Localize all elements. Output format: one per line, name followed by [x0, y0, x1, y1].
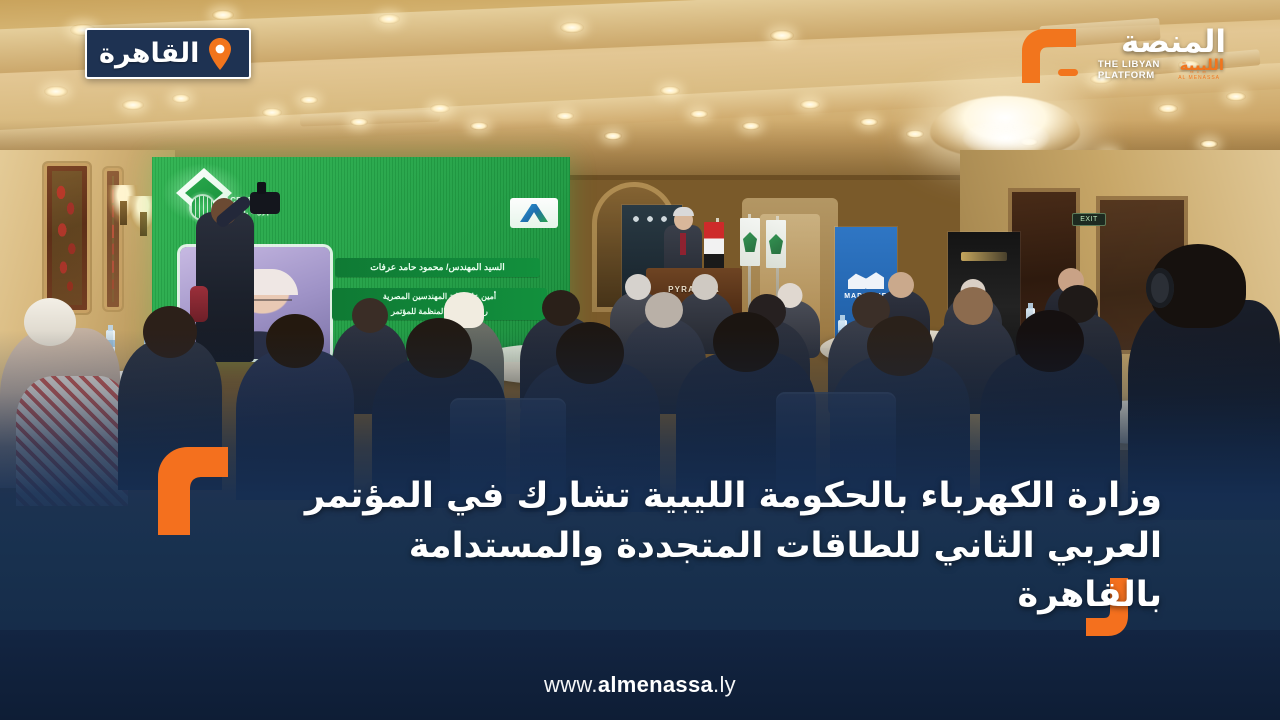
brand-tiny-mark: AL MENASSA [1178, 75, 1220, 81]
downlight [1200, 140, 1218, 148]
downlight [470, 122, 488, 130]
headline-line-3: بالقاهرة [222, 571, 1162, 621]
egypt-flag [704, 222, 724, 270]
attendee-head [645, 292, 683, 328]
brand-english-line1: THE LIBYAN [1098, 59, 1160, 70]
downlight [44, 86, 68, 97]
headline-line-1: وزارة الكهرباء بالحكومة الليبية تشارك في… [222, 472, 1162, 522]
organization-flag [740, 218, 760, 266]
speaker-head [674, 210, 693, 230]
news-card: EXIT ACRSE 2025 Cairo, Egypt السيد المهن… [0, 0, 1280, 720]
downlight [212, 10, 234, 20]
brand-arabic-sub: الليبية [1180, 58, 1224, 73]
sponsor-logo-on-screen [510, 198, 558, 228]
map-pin-icon [208, 38, 232, 70]
downlight [800, 100, 820, 109]
downlight [172, 94, 190, 103]
attendee-head [692, 274, 718, 300]
downlight [560, 22, 584, 33]
headline-line-2: العربي الثاني للطاقات المتجددة والمستدام… [222, 522, 1162, 572]
wall-panel-floral [44, 163, 90, 313]
ceiling-vent-3 [300, 110, 440, 127]
downlight [556, 112, 574, 120]
website-url[interactable]: www.almenassa.ly [0, 672, 1280, 698]
downlight [860, 118, 878, 126]
organization-flag-2 [766, 220, 786, 268]
attendee-head [352, 298, 388, 333]
downlight [604, 132, 622, 140]
downlight [350, 118, 368, 126]
attendee-head [953, 287, 993, 325]
exit-sign: EXIT [1072, 213, 1106, 226]
url-brand: almenassa [598, 672, 713, 697]
brand-english-name: THE LIBYAN PLATFORM [1098, 59, 1160, 81]
downlight [1226, 92, 1246, 101]
downlight [1158, 104, 1178, 113]
url-tld: .ly [713, 672, 736, 697]
brand-arabic-name: المنصة [1121, 27, 1226, 58]
orange-bracket-logo-icon [1018, 25, 1080, 87]
downlight [122, 100, 144, 110]
location-label: القاهرة [99, 40, 199, 67]
downlight [300, 96, 318, 104]
downlight [906, 130, 924, 138]
brand-english-line2: PLATFORM [1098, 70, 1160, 81]
downlight [262, 108, 282, 117]
orange-bracket-icon [158, 447, 228, 535]
downlight [378, 14, 400, 24]
brand-wordmark: المنصة THE LIBYAN PLATFORM الليبية AL ME… [1086, 25, 1226, 87]
camera-icon [250, 192, 280, 214]
downlight [770, 30, 794, 41]
screen-speaker-name: السيد المهندس/ محمود حامد عرفات [335, 258, 540, 277]
attendee-head [888, 272, 914, 298]
downlight [660, 86, 680, 95]
downlight [742, 122, 760, 130]
headphone-icon [1146, 268, 1174, 308]
url-prefix: www. [544, 672, 598, 697]
headline: وزارة الكهرباء بالحكومة الليبية تشارك في… [222, 472, 1162, 621]
downlight [430, 104, 450, 113]
downlight [690, 110, 708, 118]
location-badge[interactable]: القاهرة [85, 28, 251, 79]
camera-bag [190, 286, 208, 322]
brand-logo[interactable]: المنصة THE LIBYAN PLATFORM الليبية AL ME… [1018, 18, 1228, 94]
speaker-tie [680, 233, 686, 255]
madkour-logo-icon [848, 265, 884, 289]
attendee-head [625, 274, 651, 300]
attendee-head [542, 290, 580, 326]
